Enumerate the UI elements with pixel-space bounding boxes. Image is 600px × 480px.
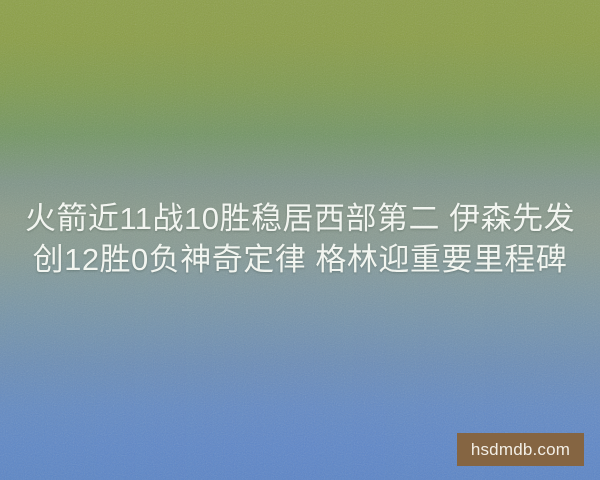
headline-line-2: 创12胜0负神奇定律 格林迎重要里程碑 <box>24 239 576 280</box>
watermark-label: hsdmdb.com <box>471 441 570 458</box>
news-image-card: 火箭近11战10胜稳居西部第二 伊森先发 创12胜0负神奇定律 格林迎重要里程碑… <box>0 0 600 480</box>
watermark-badge: hsdmdb.com <box>457 433 584 466</box>
headline-text: 火箭近11战10胜稳居西部第二 伊森先发 创12胜0负神奇定律 格林迎重要里程碑 <box>0 198 600 280</box>
headline-line-1: 火箭近11战10胜稳居西部第二 伊森先发 <box>24 198 576 239</box>
